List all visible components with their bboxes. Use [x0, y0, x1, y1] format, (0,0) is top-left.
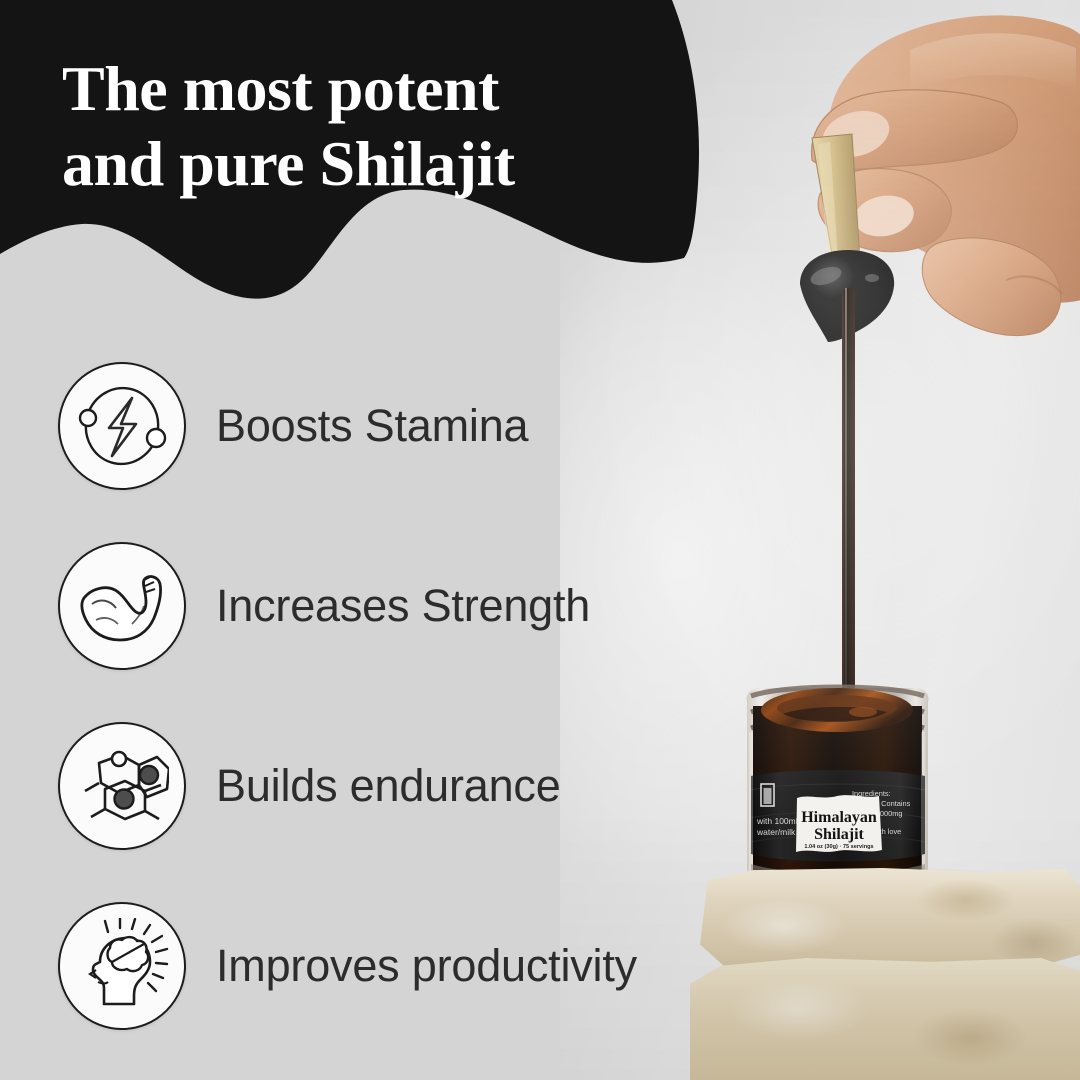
bond	[145, 785, 161, 791]
benefit-item-endurance: Builds endurance	[0, 696, 700, 876]
jar-left-line-1: with 100ml	[756, 816, 798, 826]
brand-line-1: Himalayan	[801, 809, 877, 826]
jar-left-line-2: water/milk	[756, 827, 796, 837]
flexed-bicep-icon	[58, 542, 186, 670]
bond	[91, 809, 105, 817]
atom-node-hollow	[112, 752, 126, 766]
head-brain-rays-icon	[58, 902, 186, 1030]
orbit-node	[80, 410, 96, 426]
bolt-glyph	[109, 398, 136, 456]
bicep-outline	[82, 577, 161, 640]
hand-with-spatula	[760, 0, 1080, 344]
benefits-list: Boosts Stamina Increases Strength	[0, 336, 700, 1056]
glass-highlight-right	[921, 732, 925, 882]
shilajit-jar: with 100ml water/milk Ingredients: Each …	[735, 672, 940, 894]
resin-drip-strand	[842, 288, 855, 708]
resin-highlight	[849, 707, 877, 717]
bond	[145, 811, 159, 819]
orbit-node	[147, 429, 165, 447]
brand-line-2: Shilajit	[814, 826, 864, 843]
benefit-item-productivity: Improves productivity	[0, 876, 700, 1056]
molecule-hexagon-icon	[58, 722, 186, 850]
product-infographic: with 100ml water/milk Ingredients: Each …	[0, 0, 1080, 1080]
glass-highlight-left	[749, 732, 753, 882]
page-title: The most potent and pure Shilajit	[62, 52, 682, 202]
atom-node-filled	[115, 790, 134, 809]
stone-slab-upper	[700, 868, 1080, 974]
net-weight: 1.04 oz (30g) · 75 servings	[804, 844, 873, 850]
atom-node-filled	[140, 766, 158, 784]
stone-slab-lower	[690, 958, 1080, 1080]
lightning-bolt-energy-icon	[58, 362, 186, 490]
benefit-item-stamina: Boosts Stamina	[0, 336, 700, 516]
benefit-label-strength: Increases Strength	[216, 581, 590, 631]
benefit-label-productivity: Improves productivity	[216, 941, 637, 991]
benefit-label-endurance: Builds endurance	[216, 761, 561, 811]
benefit-label-stamina: Boosts Stamina	[216, 401, 528, 451]
bond	[85, 783, 99, 791]
resin-specular	[865, 274, 879, 282]
benefit-item-strength: Increases Strength	[0, 516, 700, 696]
